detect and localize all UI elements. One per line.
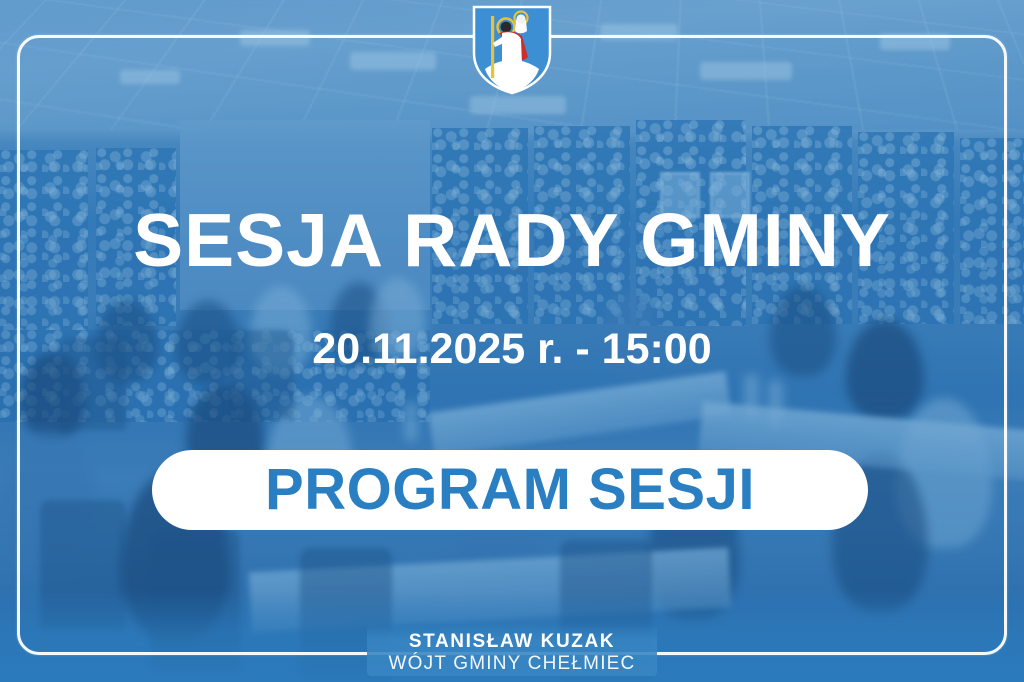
- footer-signature: STANISŁAW KUZAK WÓJT GMINY CHEŁMIEC: [0, 631, 1024, 674]
- official-role: WÓJT GMINY CHEŁMIEC: [389, 653, 636, 674]
- session-datetime: 20.11.2025 r. - 15:00: [0, 328, 1024, 371]
- session-announcement-poster: SESJA RADY GMINY 20.11.2025 r. - 15:00 P…: [0, 0, 1024, 682]
- program-sesji-button[interactable]: PROGRAM SESJI: [152, 450, 868, 530]
- official-name: STANISŁAW KUZAK: [409, 631, 615, 652]
- page-title: SESJA RADY GMINY: [0, 203, 1024, 278]
- poster-content: SESJA RADY GMINY 20.11.2025 r. - 15:00 P…: [0, 0, 1024, 682]
